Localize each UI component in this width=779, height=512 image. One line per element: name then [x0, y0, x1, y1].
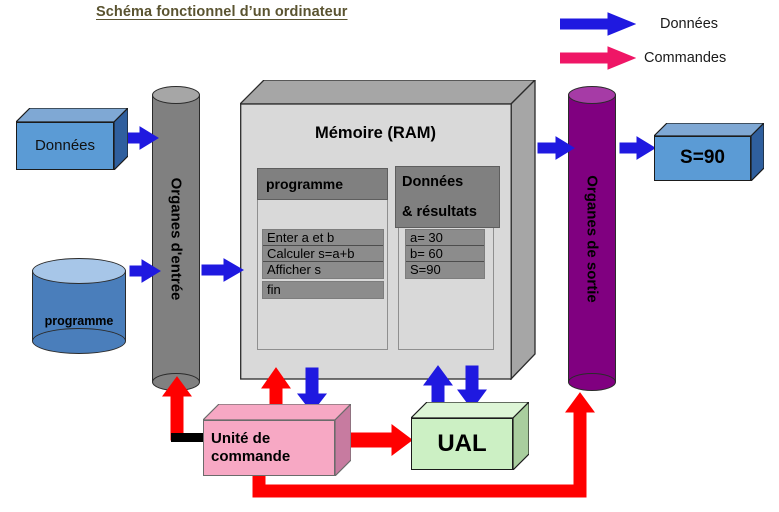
output-result-box-label: S=90	[654, 136, 751, 181]
memory-data-value: a= 30	[406, 230, 484, 246]
legend-label-donnees: Données	[660, 16, 718, 32]
cylinder-bottom-cap	[152, 373, 200, 391]
edge-input-to-memory	[202, 259, 243, 281]
cylinder-top-cap	[568, 86, 616, 104]
memory-title: Mémoire (RAM)	[240, 124, 511, 143]
input-devices-cylinder[interactable]: Organes d'entrée	[152, 86, 200, 391]
memory-data-header-line1: Données	[402, 174, 463, 190]
program-store-cylinder[interactable]: programme	[32, 258, 126, 354]
program-line: Afficher s	[263, 262, 383, 278]
alu-label: UAL	[411, 418, 513, 470]
output-devices-label: Organes de sortie	[584, 175, 601, 303]
input-devices-label: Organes d'entrée	[168, 177, 185, 300]
alu-box[interactable]: UAL	[411, 402, 529, 470]
output-result-box[interactable]: S=90	[654, 123, 764, 181]
memory-data-value: S=90	[406, 262, 484, 278]
cylinder-top-cap	[152, 86, 200, 104]
memory-program-header: programme	[257, 168, 388, 200]
control-unit-label: Unité de commande	[203, 420, 335, 476]
program-line: Enter a et b	[263, 230, 383, 246]
edge-control-unit-to-alu	[347, 425, 412, 455]
program-store-label: programme	[32, 314, 126, 328]
program-code-rows: Enter a et b Calculer s=a+b Afficher s f…	[262, 229, 384, 299]
memory-box[interactable]: Mémoire (RAM) Enter a et b Calculer s=a+…	[240, 80, 536, 380]
memory-data-header: Données & résultats	[395, 166, 500, 228]
input-data-box[interactable]: Données	[16, 108, 128, 170]
memory-data-values-box: a= 30 b= 60 S=90	[405, 229, 485, 279]
output-devices-cylinder[interactable]: Organes de sortie	[568, 86, 616, 391]
legend-label-commandes: Commandes	[644, 50, 726, 66]
cylinder-bottom-cap	[32, 328, 126, 354]
legend-item-commandes: Commandes	[560, 46, 726, 70]
page-title: Schéma fonctionnel d’un ordinateur	[96, 4, 348, 20]
cylinder-top-cap	[32, 258, 126, 284]
program-line-end: fin	[263, 282, 383, 298]
program-end-box: fin	[262, 281, 384, 299]
right-arrow-icon	[560, 12, 636, 36]
input-data-box-label: Données	[16, 122, 114, 170]
cylinder-bottom-cap	[568, 373, 616, 391]
memory-data-value: b= 60	[406, 246, 484, 262]
program-line: Calculer s=a+b	[263, 246, 383, 262]
memory-program-header-label: programme	[266, 176, 343, 192]
edge-output-to-result	[620, 137, 655, 159]
control-unit-box[interactable]: Unité de commande	[203, 404, 351, 476]
program-lines-box: Enter a et b Calculer s=a+b Afficher s	[262, 229, 384, 279]
memory-data-header-line2: & résultats	[402, 204, 477, 220]
legend-item-donnees: Données	[560, 12, 718, 36]
right-arrow-icon	[560, 46, 636, 70]
